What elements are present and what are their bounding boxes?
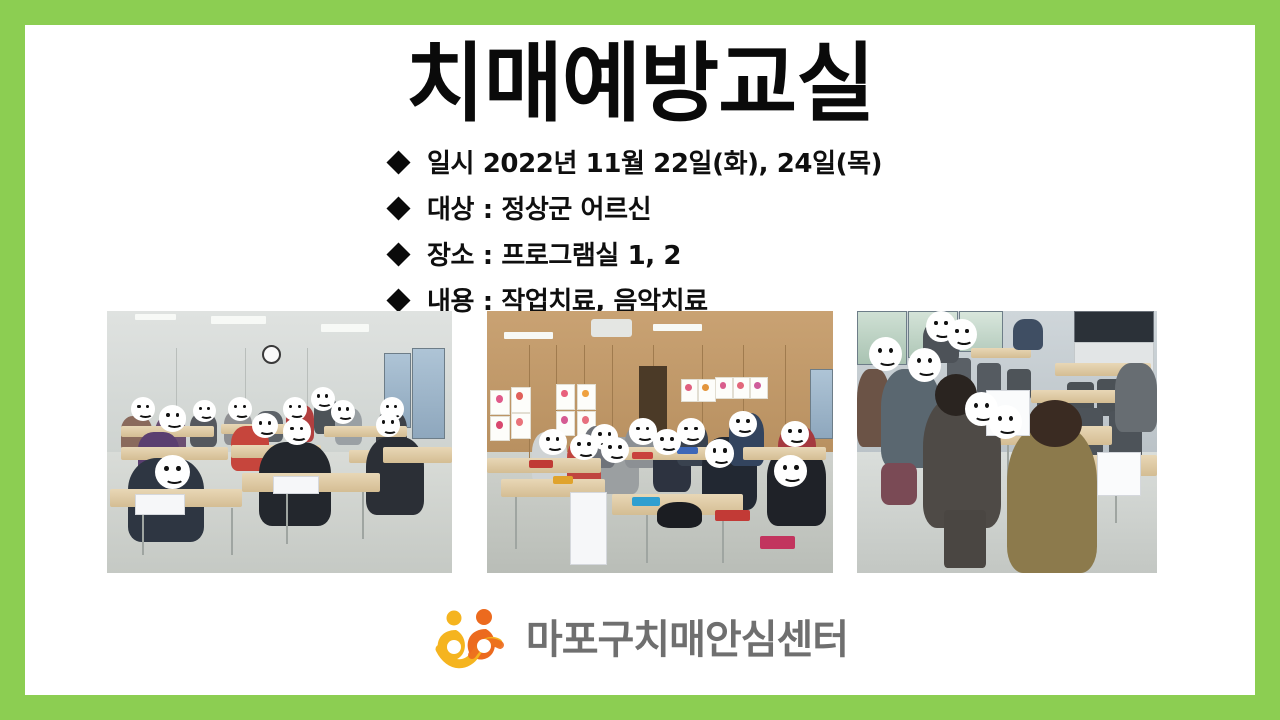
ceiling-light — [504, 332, 552, 339]
window — [810, 369, 833, 439]
diamond-bullet-icon — [386, 288, 410, 312]
desk-leg — [515, 497, 517, 549]
worksheet — [273, 476, 320, 494]
face-mask-smiley-icon — [159, 405, 187, 431]
flower-shape — [685, 384, 692, 391]
worksheet — [135, 494, 185, 514]
desk-leg — [362, 492, 364, 539]
ceiling-light — [321, 324, 369, 332]
face-mask-smiley-icon — [252, 413, 278, 438]
flower-shape — [496, 395, 503, 403]
participant — [1115, 363, 1157, 431]
face-mask-smiley-icon — [601, 437, 629, 463]
flower-shape — [720, 382, 727, 389]
mapo-dementia-care-center-logo-icon — [432, 609, 510, 671]
list-item: 장소 : 프로그램실 1, 2 — [390, 235, 882, 272]
poster-frame: 치매예방교실 일시 2022년 11월 22일(화), 24일(목) 대상 : … — [0, 0, 1280, 720]
ceiling-light — [135, 314, 176, 321]
photo-strip — [82, 311, 1182, 573]
worksheet — [1097, 452, 1141, 496]
face-mask-smiley-icon — [283, 418, 311, 444]
face-mask-smiley-icon — [781, 421, 809, 447]
desk — [383, 447, 452, 463]
display-screen — [1074, 311, 1154, 344]
ceiling-light — [653, 324, 701, 331]
face-mask-smiley-icon — [947, 319, 977, 350]
ceiling-projector — [591, 319, 633, 337]
diamond-bullet-icon — [386, 242, 410, 266]
detail-list: 일시 2022년 11월 22일(화), 24일(목) 대상 : 정상군 어르신… — [390, 143, 882, 318]
instrument-boomwhacker — [677, 447, 698, 454]
desk-leg — [231, 508, 233, 555]
diamond-bullet-icon — [386, 150, 410, 174]
instrument-boomwhacker — [553, 476, 574, 484]
face-mask-smiley-icon — [155, 455, 190, 489]
center-logo: 마포구치매안심센터 — [25, 609, 1255, 671]
bag — [944, 510, 986, 568]
flower-shape — [496, 421, 503, 429]
window — [412, 348, 445, 439]
flower-artwork — [511, 387, 530, 413]
desk-leg — [286, 492, 288, 544]
list-item: 일시 2022년 11월 22일(화), 24일(목) — [390, 143, 882, 180]
photo-occupational-therapy — [107, 311, 452, 573]
desk-leg — [646, 515, 648, 562]
flower-artwork — [577, 384, 596, 410]
desk-leg — [722, 515, 724, 562]
instrument-boomwhacker — [632, 452, 653, 459]
flower-artwork — [511, 413, 530, 439]
flower-artwork — [556, 384, 575, 410]
notebook — [760, 536, 795, 549]
photo-classroom-worksheets — [857, 311, 1157, 573]
instrument-boomwhacker — [715, 510, 750, 520]
face-mask-smiley-icon — [193, 400, 215, 422]
face-mask-smiley-icon — [774, 455, 807, 486]
hair — [1028, 400, 1082, 447]
hat — [657, 502, 702, 528]
detail-place: 장소 : 프로그램실 1, 2 — [427, 235, 681, 272]
face-mask-smiley-icon — [331, 400, 355, 424]
lyrics-stand — [570, 492, 607, 565]
flower-shape — [582, 416, 589, 424]
participant — [1013, 319, 1043, 350]
diamond-bullet-icon — [386, 196, 410, 220]
face-mask-smiley-icon — [677, 418, 705, 444]
face-mask-smiley-icon — [539, 429, 567, 455]
detail-target: 대상 : 정상군 어르신 — [427, 189, 651, 226]
classroom-rear-scene — [857, 311, 1157, 573]
face-mask-smiley-icon — [376, 413, 400, 437]
participant — [1007, 426, 1097, 573]
backpack — [881, 463, 917, 505]
photo-music-therapy — [487, 311, 833, 573]
flower-shape — [754, 382, 761, 389]
flower-shape — [737, 382, 744, 389]
classroom-scene — [107, 311, 452, 573]
face-mask-smiley-icon — [908, 348, 941, 382]
music-room-scene — [487, 311, 833, 573]
poster-sheet: 치매예방교실 일시 2022년 11월 22일(화), 24일(목) 대상 : … — [25, 25, 1255, 695]
instrument-boomwhacker — [529, 460, 553, 468]
face-mask-smiley-icon — [869, 337, 902, 371]
page-title: 치매예방교실 — [25, 39, 1255, 129]
instrument-boomwhacker — [632, 497, 660, 506]
flower-shape — [561, 416, 568, 424]
logo-wordmark: 마포구치매안심센터 — [526, 620, 848, 660]
face-mask-smiley-icon — [729, 411, 757, 437]
list-item: 대상 : 정상군 어르신 — [390, 189, 882, 226]
ceiling-light — [211, 316, 266, 324]
detail-date: 일시 2022년 11월 22일(화), 24일(목) — [427, 143, 882, 180]
face-mask-smiley-icon — [228, 397, 252, 421]
